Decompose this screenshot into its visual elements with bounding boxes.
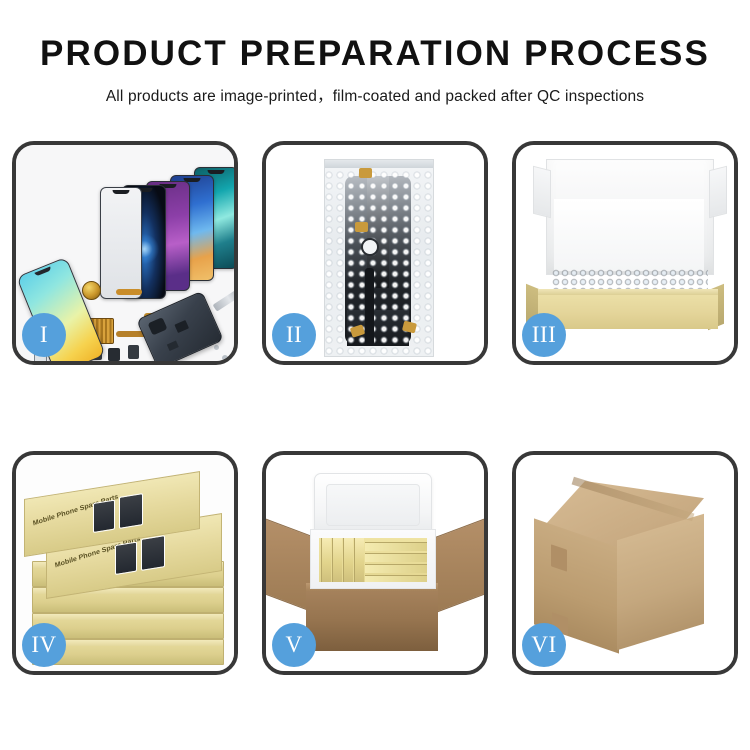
step-badge-2: II (272, 313, 316, 357)
screw-part (222, 355, 228, 361)
page-subtitle: All products are image-printed，film-coat… (0, 84, 750, 106)
small-component (128, 345, 139, 359)
bubble-wrap-bag (324, 159, 434, 357)
process-step-panel-3[interactable]: III (512, 141, 738, 365)
flex-cable-part (116, 289, 142, 295)
process-step-grid: I II (12, 141, 738, 675)
step-badge-3: III (522, 313, 566, 357)
small-component (108, 348, 120, 361)
speaker-module (82, 281, 101, 300)
process-step-panel-4[interactable]: Mobile Phone Spare Parts Mobile Phone Sp (12, 451, 238, 675)
process-step-panel-2[interactable]: II (262, 141, 488, 365)
foam-cavity (319, 538, 427, 582)
box-rim (538, 289, 718, 295)
box-front-panel (538, 293, 718, 329)
foam-box-body (310, 529, 436, 589)
page-header: PRODUCT PREPARATION PROCESS All products… (0, 0, 750, 106)
step-badge-5: V (272, 623, 316, 667)
page-title: PRODUCT PREPARATION PROCESS (0, 36, 750, 73)
process-step-panel-5[interactable]: V (262, 451, 488, 675)
phone-fan-group (108, 167, 234, 287)
step-badge-6: VI (522, 623, 566, 667)
step-badge-1: I (22, 313, 66, 357)
step-badge-4: IV (22, 623, 66, 667)
carton-body (306, 583, 438, 651)
box-inner-foam (554, 199, 704, 271)
screw-part (214, 345, 219, 350)
process-step-panel-6[interactable]: VI (512, 451, 738, 675)
process-step-panel-1[interactable]: I (12, 141, 238, 365)
screw-part (232, 349, 234, 354)
